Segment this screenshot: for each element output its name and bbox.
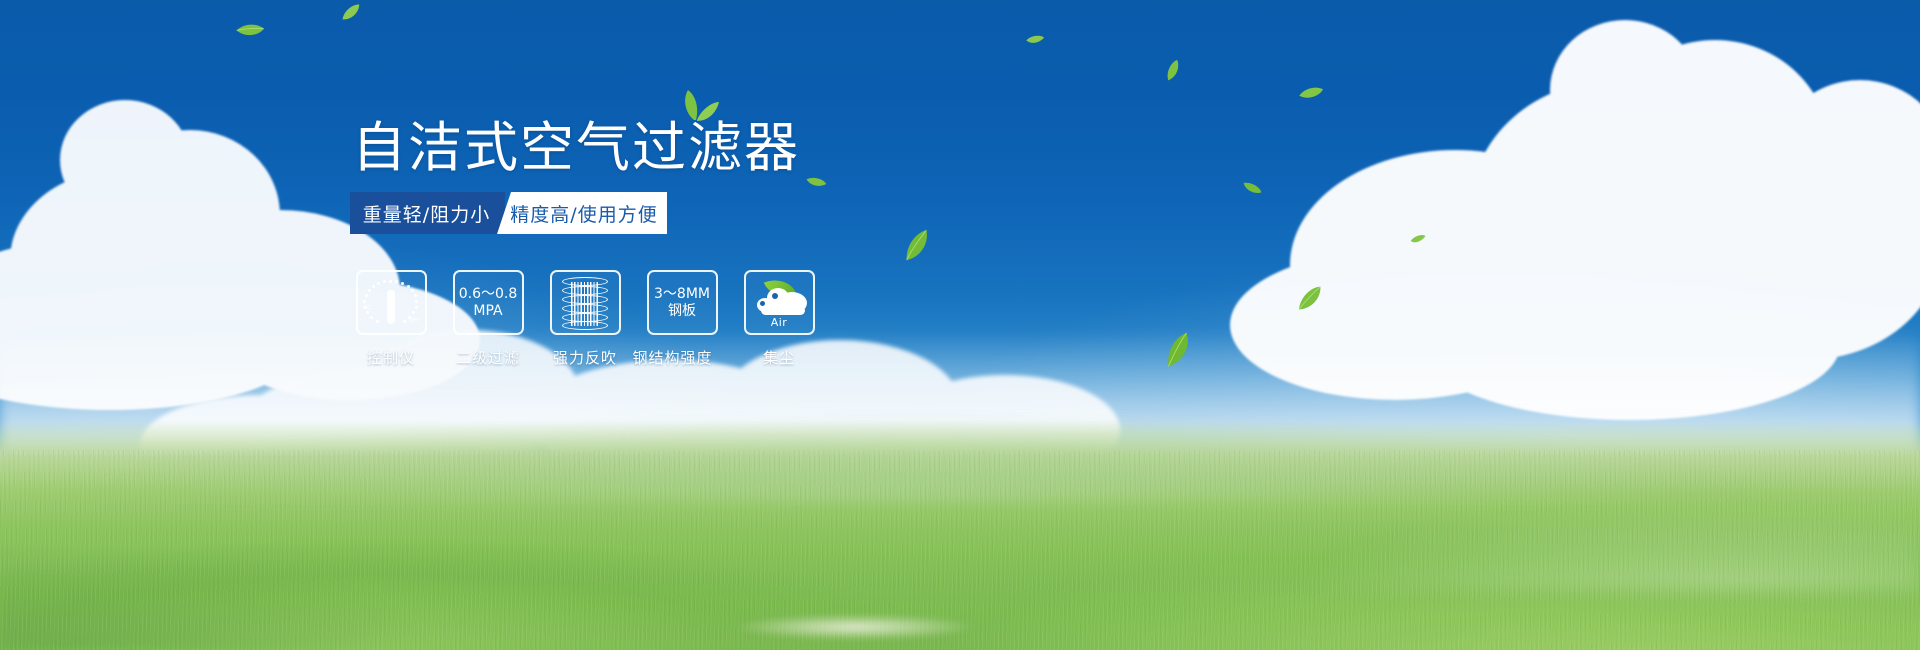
feature-caption: 强力反吹 [553,347,617,368]
steel-thickness: 3～8MM [654,286,710,303]
tab-weight-resistance[interactable]: 重量轻/阻力小 [350,192,505,234]
steel-material: 钢板 [668,303,696,320]
air-cloud-icon: Air [751,280,807,326]
gauge-label-no: NO [363,305,371,311]
feature-controller[interactable]: NO OFF 控制仪 [355,270,427,368]
tab-precision-convenience[interactable]: 精度高/使用方便 [497,192,667,234]
page-title: 自洁式空气过滤器 [352,119,800,177]
feature-tabs: 重量轻/阻力小 精度高/使用方便 [350,192,667,234]
gauge-label-off: OFF [409,318,420,324]
gauge-icon: NO OFF [362,277,420,329]
cartridge-icon [562,277,608,329]
banner-content: 自洁式空气过滤器 重量轻/阻力小 精度高/使用方便 [0,0,1920,650]
hero-banner: 自洁式空气过滤器 重量轻/阻力小 精度高/使用方便 [0,0,1920,650]
pressure-unit: MPA [473,303,502,320]
feature-icon-box: NO OFF [356,270,427,335]
feature-icon-row: NO OFF 控制仪 0.6～0.8 MPA 二级过滤 [355,270,815,368]
feature-steel-strength[interactable]: 3～8MM 钢板 钢结构强度 [646,270,718,368]
feature-icon-box: 0.6～0.8 MPA [453,270,524,335]
feature-icon-box [550,270,621,335]
feature-caption: 钢结构强度 [618,347,728,368]
feature-caption: 集尘 [763,347,795,368]
gauge-needle [387,290,395,324]
feature-icon-box: 3～8MM 钢板 [647,270,718,335]
feature-caption: 控制仪 [367,347,415,368]
feature-icon-box: Air [744,270,815,335]
feature-caption: 二级过滤 [456,347,520,368]
air-label: Air [751,316,807,329]
feature-dust-collection[interactable]: Air 集尘 [743,270,815,368]
feature-strong-blowback[interactable]: 强力反吹 [549,270,621,368]
feature-two-stage-filter[interactable]: 0.6～0.8 MPA 二级过滤 [452,270,524,368]
pressure-value: 0.6～0.8 [459,286,518,303]
